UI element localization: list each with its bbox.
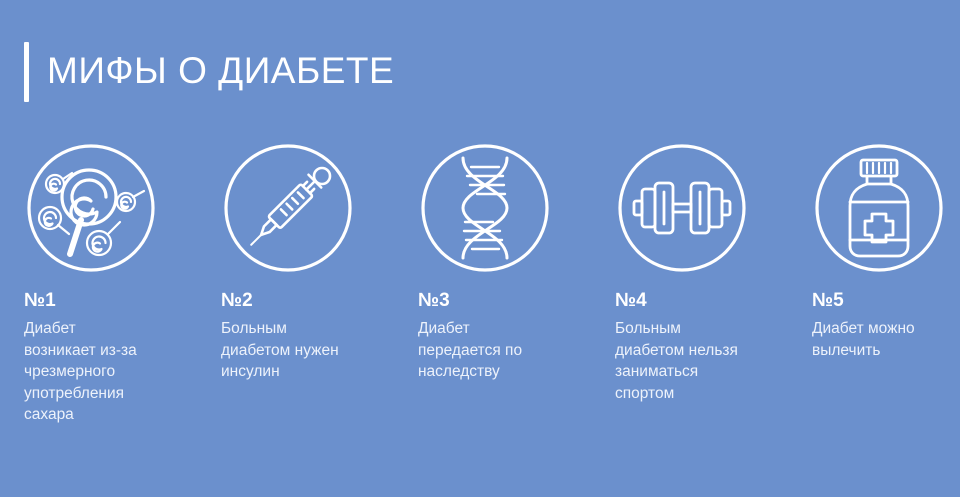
pill-bottle-icon	[813, 142, 945, 274]
myth-card-4: №4 Больным диабетом нельзя заниматься сп…	[615, 142, 812, 404]
myth-card-2: №2 Больным диабетом нужен инсулин	[221, 142, 418, 383]
page-title-text: МИФЫ О ДИАБЕТЕ	[47, 42, 394, 102]
lollipop-icon	[25, 142, 157, 274]
page-title: МИФЫ О ДИАБЕТЕ	[24, 42, 394, 102]
myth-card-3: №3 Диабет передается по наследству	[418, 142, 615, 383]
myth-text-1: Диабет возникает из-за чрезмерного употр…	[24, 318, 137, 426]
myth-number-3: №3	[418, 290, 450, 312]
myth-card-5: №5 Диабет можно вылечить	[812, 142, 960, 361]
myth-number-4: №4	[615, 290, 647, 312]
myth-card-1: №1 Диабет возникает из-за чрезмерного уп…	[24, 142, 221, 426]
dna-helix-icon	[419, 142, 551, 274]
myth-text-3: Диабет передается по наследству	[418, 318, 522, 383]
dumbbell-icon	[616, 142, 748, 274]
infographic-poster: МИФЫ О ДИАБЕТЕ	[0, 0, 960, 497]
myth-number-2: №2	[221, 290, 253, 312]
title-accent-bar	[24, 42, 29, 102]
myth-text-4: Больным диабетом нельзя заниматься спорт…	[615, 318, 738, 404]
myths-list: №1 Диабет возникает из-за чрезмерного уп…	[24, 142, 936, 426]
syringe-icon	[222, 142, 354, 274]
myth-number-5: №5	[812, 290, 844, 312]
myth-text-5: Диабет можно вылечить	[812, 318, 915, 361]
myth-number-1: №1	[24, 290, 56, 312]
myth-text-2: Больным диабетом нужен инсулин	[221, 318, 339, 383]
